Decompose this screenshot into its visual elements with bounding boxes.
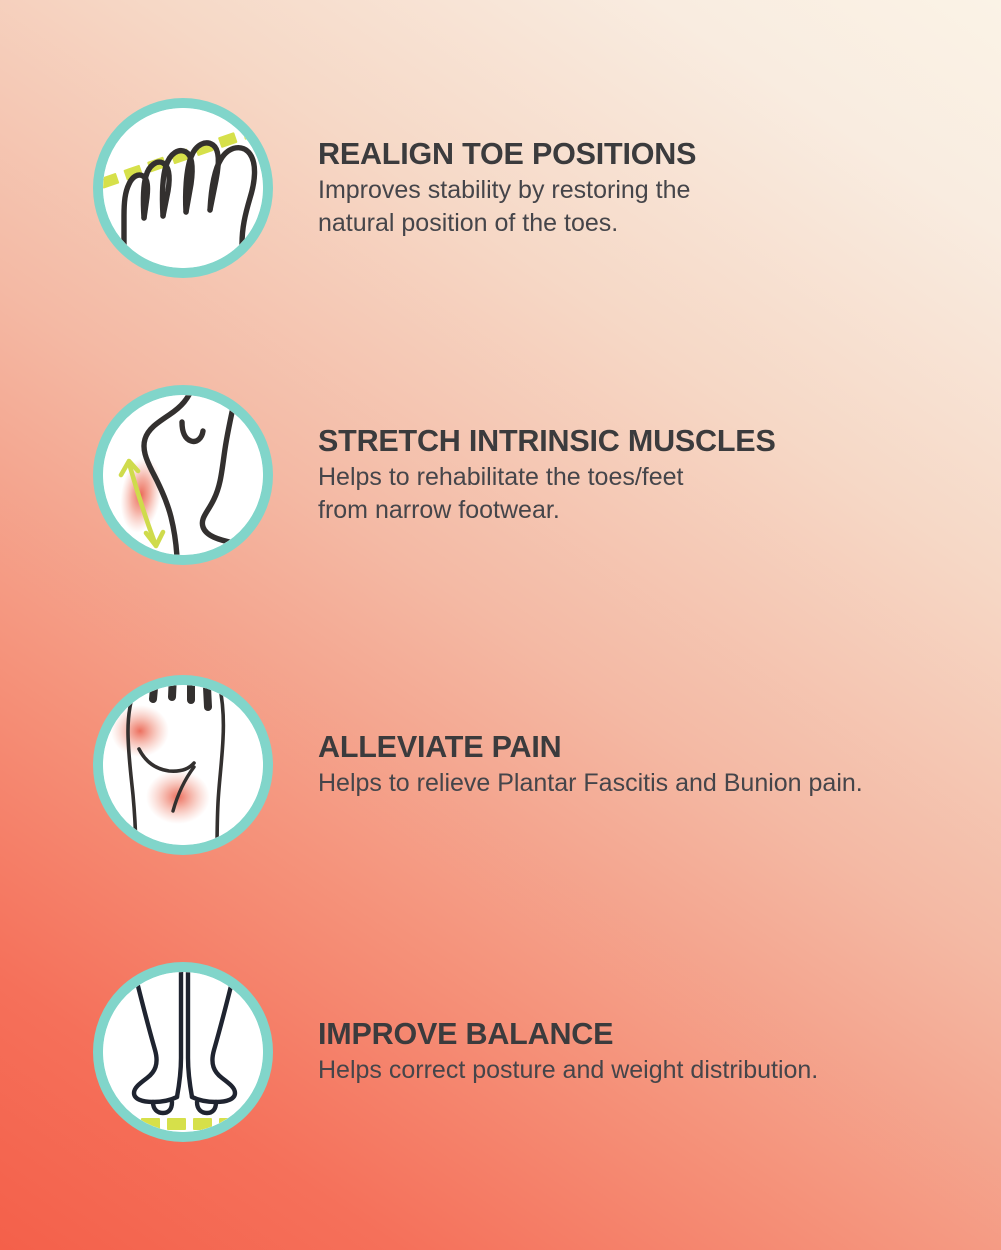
two-feet-rear-balance-icon [93,962,273,1142]
benefits-infographic: REALIGN TOE POSITIONS Improves stability… [0,0,1001,1250]
benefit-description: Helps to relieve Plantar Fascitis and Bu… [318,767,978,799]
benefit-description: Helps to rehabilitate the toes/feet from… [318,461,978,526]
benefit-text: ALLEVIATE PAIN Helps to relieve Plantar … [318,730,1001,799]
benefit-text: IMPROVE BALANCE Helps correct posture an… [318,1017,1001,1086]
benefit-row: IMPROVE BALANCE Helps correct posture an… [0,962,1001,1142]
description-line: from narrow footwear. [318,494,978,526]
benefit-title: ALLEVIATE PAIN [318,730,1001,764]
benefit-row: ALLEVIATE PAIN Helps to relieve Plantar … [0,675,1001,855]
benefit-row: STRETCH INTRINSIC MUSCLES Helps to rehab… [0,385,1001,565]
foot-side-stretch-arrow-icon [93,385,273,565]
benefit-description: Improves stability by restoring the natu… [318,174,978,239]
benefit-title: IMPROVE BALANCE [318,1017,1001,1051]
benefit-row: REALIGN TOE POSITIONS Improves stability… [0,98,1001,278]
foot-sole-pain-points-icon [93,675,273,855]
benefit-text: REALIGN TOE POSITIONS Improves stability… [318,137,1001,239]
benefit-title: STRETCH INTRINSIC MUSCLES [318,424,1001,458]
benefit-title: REALIGN TOE POSITIONS [318,137,1001,171]
description-line: natural position of the toes. [318,207,978,239]
toe-spread-top-view-icon [93,98,273,278]
description-line: Improves stability by restoring the [318,174,978,206]
description-line: Helps to rehabilitate the toes/feet [318,461,978,493]
benefit-text: STRETCH INTRINSIC MUSCLES Helps to rehab… [318,424,1001,526]
benefit-description: Helps correct posture and weight distrib… [318,1054,978,1086]
description-line: Helps to relieve Plantar Fascitis and Bu… [318,767,978,799]
description-line: Helps correct posture and weight distrib… [318,1054,978,1086]
